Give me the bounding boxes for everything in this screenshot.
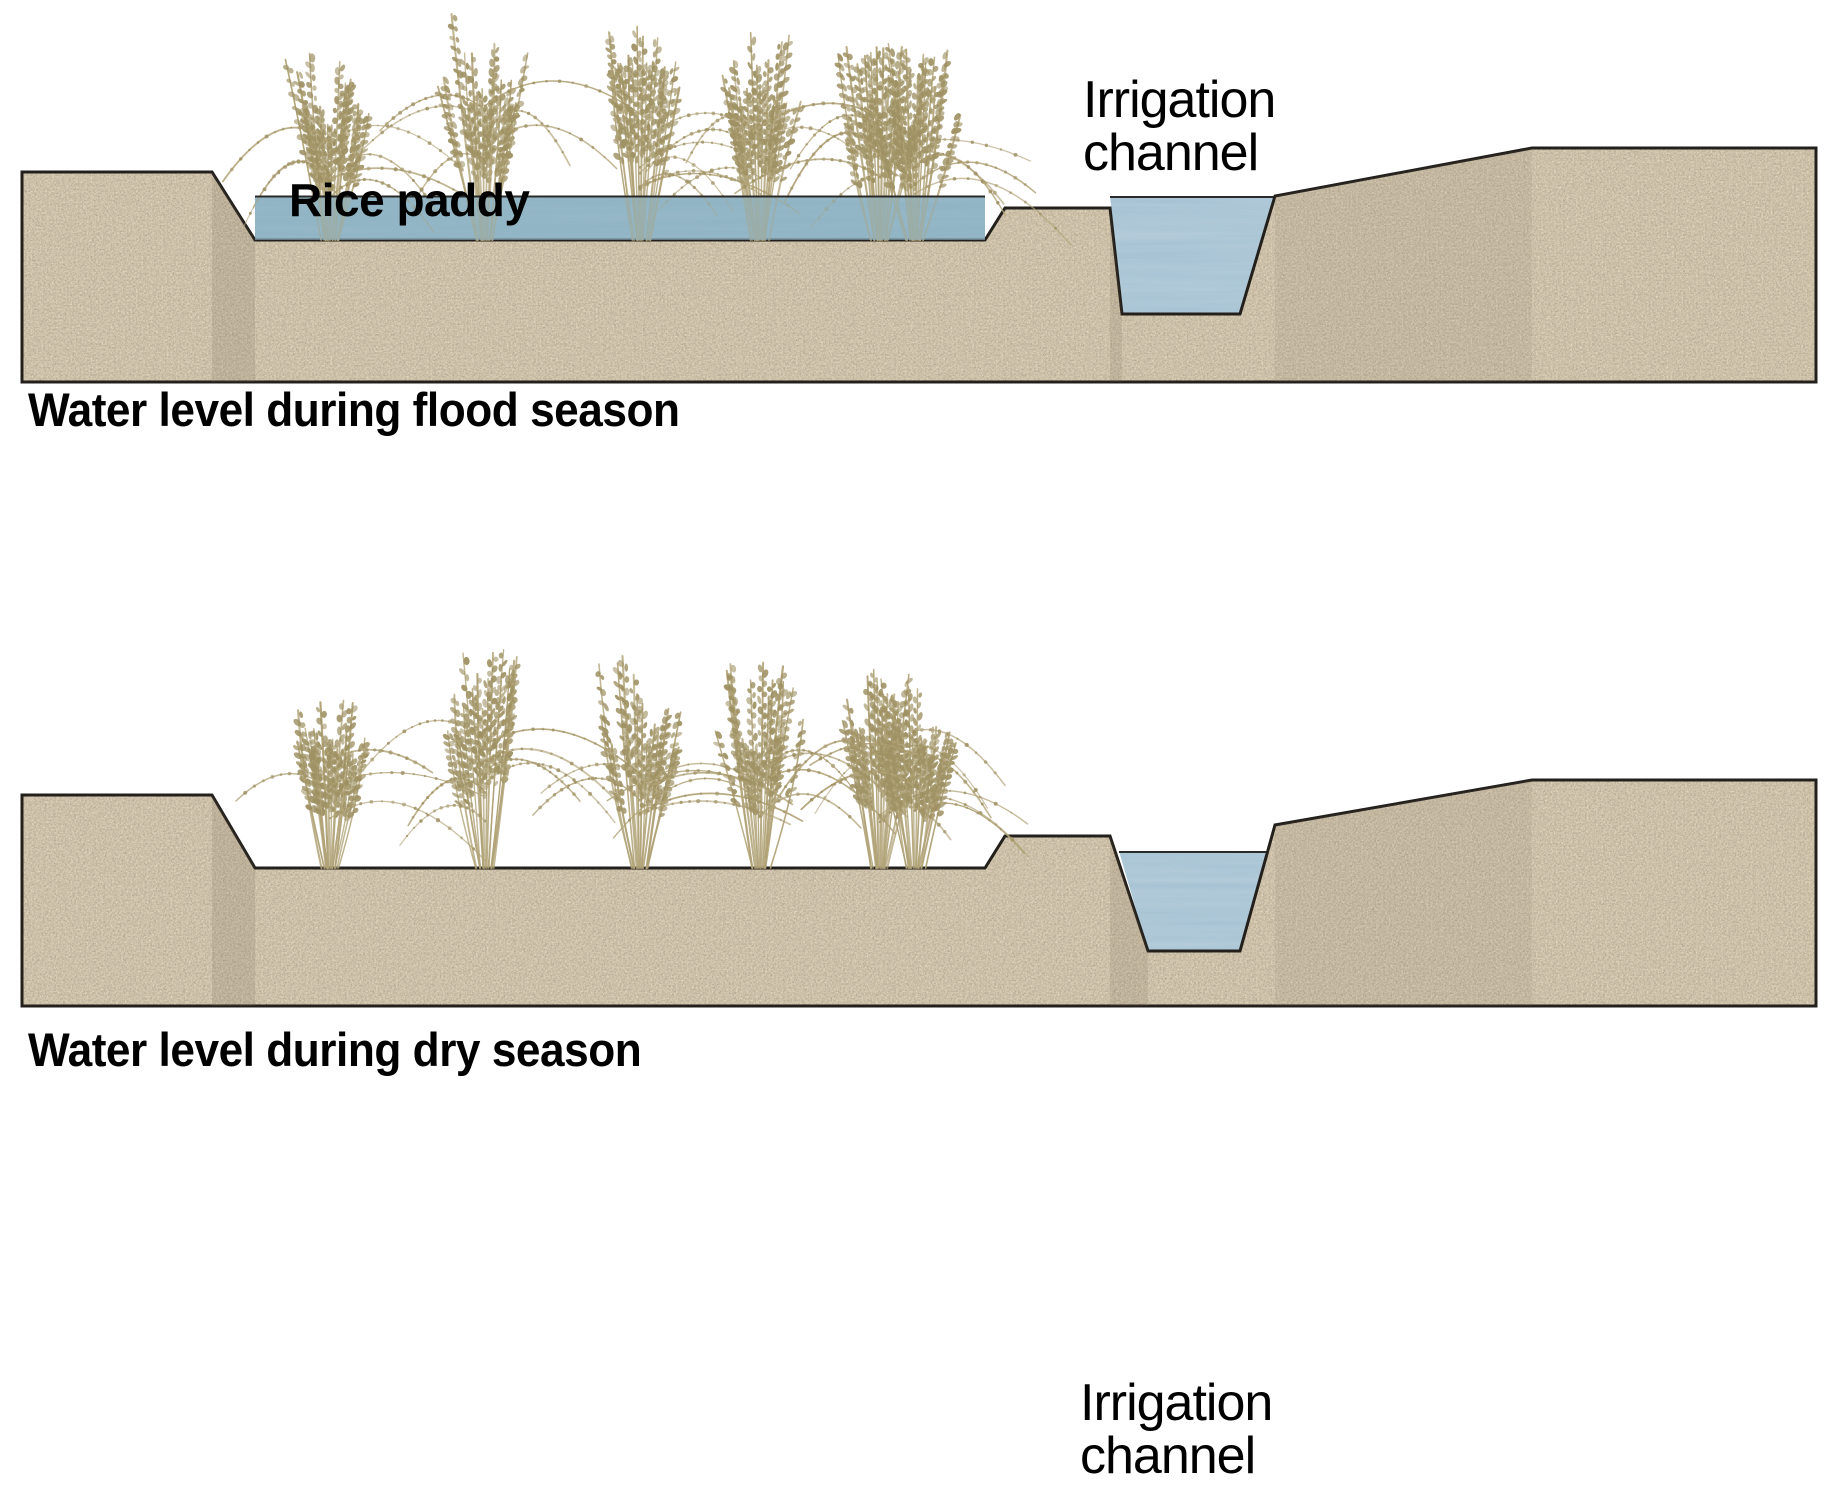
rice-grain: [955, 803, 958, 806]
rice-grain: [805, 162, 809, 166]
rice-grain: [768, 775, 772, 779]
rice-grain: [358, 153, 362, 157]
rice-grain: [463, 778, 466, 781]
rice-grain: [966, 160, 969, 163]
rice-grain: [752, 172, 756, 176]
rice-grain: [503, 131, 507, 135]
rice-grain: [441, 719, 444, 722]
rice-grain: [767, 765, 769, 767]
rice-grain: [707, 770, 710, 773]
rice-grain: [862, 166, 866, 170]
rice-grain: [453, 804, 456, 807]
rice-grain: [736, 119, 738, 121]
rice-grain: [833, 783, 836, 786]
rice-grain: [913, 754, 917, 758]
rice-grain: [905, 759, 909, 763]
rice-grain: [975, 751, 978, 754]
rice-grain: [820, 753, 822, 755]
rice-grain: [560, 780, 563, 783]
rice-grain: [372, 139, 374, 141]
rice-grain: [390, 160, 393, 163]
rice-grain: [439, 149, 442, 152]
rice-grain: [549, 771, 552, 774]
rice-grain: [964, 792, 967, 795]
rice-grain: [688, 800, 691, 803]
rice-grain: [714, 800, 718, 804]
rice-grain: [738, 96, 742, 102]
rice-grain: [470, 730, 472, 732]
rice-grain: [796, 748, 800, 752]
rice-grain: [823, 796, 826, 799]
rice-grain: [447, 760, 455, 768]
rice-grain: [692, 141, 694, 143]
rice-grain: [774, 757, 777, 760]
rice-grain: [347, 129, 350, 132]
rice-grain: [652, 129, 656, 133]
rice-grain: [449, 779, 452, 782]
rice-grain: [653, 178, 657, 182]
rice-grain: [274, 131, 277, 134]
rice-grain: [671, 775, 675, 779]
panel-dry-season: Irrigationchannel Water level during dry…: [0, 640, 1838, 1286]
rice-grain: [573, 770, 575, 772]
rice-grain: [526, 760, 528, 762]
rice-grain: [779, 166, 783, 170]
rice-grain: [272, 174, 276, 178]
rice-grain: [641, 780, 645, 784]
rice-grain: [940, 154, 942, 156]
rice-grain: [937, 823, 941, 827]
rice-grain: [761, 174, 764, 177]
rice-grain: [417, 110, 420, 113]
rice-grain: [483, 145, 487, 149]
rice-grain: [860, 135, 863, 138]
rice-grain: [514, 109, 517, 112]
irrigation-label-line2: channel: [1083, 124, 1258, 182]
rice-grain: [581, 785, 583, 787]
rice-grain: [671, 803, 674, 806]
rice-grain: [913, 165, 916, 168]
rice-grain: [402, 730, 406, 734]
rice-grain: [645, 182, 649, 186]
rice-grain: [436, 818, 440, 822]
rice-grain: [618, 792, 621, 795]
rice-grain: [603, 156, 605, 158]
rice-grain: [483, 680, 488, 689]
rice-grain: [359, 802, 362, 805]
rice-grain: [348, 805, 352, 809]
rice-grain: [814, 158, 816, 160]
rice-grain: [540, 122, 543, 125]
rice-grain: [981, 179, 984, 182]
rice-grain: [339, 780, 342, 783]
rice-grain: [560, 788, 564, 792]
rice-grain: [807, 793, 810, 796]
rice-grain: [700, 793, 702, 795]
rice-grain: [484, 104, 487, 107]
rice-grain: [777, 771, 781, 775]
rice-grain: [853, 132, 857, 136]
rice-grain: [913, 809, 916, 812]
rice-grain: [797, 154, 800, 157]
rice-grain: [311, 74, 316, 81]
rice-grain: [828, 120, 831, 123]
rice-grain: [409, 114, 411, 116]
rice-grain: [317, 749, 321, 755]
rice-grain: [455, 94, 459, 98]
rice-grain: [542, 728, 545, 731]
rice-grain: [706, 128, 709, 131]
rice-grain: [860, 107, 864, 111]
rice-grain: [456, 723, 458, 725]
rice-grain: [994, 802, 998, 806]
rice-grain: [353, 168, 357, 172]
rice-grain: [715, 792, 719, 796]
rice-grain: [988, 819, 990, 821]
rice-grain: [819, 757, 822, 760]
rice-grain: [658, 174, 660, 176]
rice-grain: [614, 781, 616, 783]
rice-grain: [870, 752, 874, 756]
rice-grain: [676, 170, 680, 174]
rice-grain: [718, 772, 721, 775]
rice-grain: [473, 68, 478, 77]
rice-grain: [726, 131, 728, 133]
rice-grain: [560, 757, 562, 759]
rice-grain: [833, 135, 836, 138]
rice-grain: [520, 758, 523, 761]
rice-grain: [521, 748, 524, 751]
rice-grain: [391, 801, 394, 804]
rice-grain: [838, 807, 840, 809]
rice-grain: [832, 102, 835, 105]
rice-grain: [683, 158, 686, 161]
rice-grain: [887, 772, 891, 776]
rice-grain: [944, 802, 947, 805]
rice-grain: [411, 102, 415, 106]
rice-grain: [645, 180, 648, 183]
rice-grain: [932, 154, 936, 158]
rice-grain: [507, 89, 511, 93]
rice-grain: [381, 800, 383, 802]
rice-grain: [605, 811, 607, 813]
rice-grain: [870, 170, 874, 174]
rice-grain: [396, 127, 399, 130]
rice-grain: [422, 802, 425, 805]
rice-grain: [635, 144, 638, 147]
rice-grain: [687, 113, 691, 117]
rice-grain: [395, 736, 397, 738]
rice-grain: [496, 119, 499, 122]
rice-grain: [296, 159, 300, 163]
rice-grain: [262, 779, 265, 782]
rice-grain: [877, 742, 881, 746]
rice-grain: [459, 804, 463, 808]
rice-grain: [484, 783, 486, 785]
rice-grain: [531, 727, 534, 730]
rice-grain: [730, 146, 732, 148]
rice-grain: [738, 778, 741, 781]
rice-grain: [920, 728, 924, 732]
rice-grain: [555, 775, 558, 778]
dry-season-caption: Water level during dry season: [28, 1022, 641, 1077]
rice-grain: [849, 774, 853, 778]
rice-grain: [650, 729, 653, 737]
rice-grain: [624, 766, 628, 770]
rice-grain: [483, 108, 486, 111]
rice-grain: [746, 45, 753, 54]
dry-season-cross-section: [0, 640, 1838, 1060]
rice-grain: [638, 798, 641, 801]
panel-flood-season: Rice paddy Irrigationchannel Water level…: [0, 0, 1838, 560]
rice-grain: [243, 791, 247, 795]
rice-grain: [654, 57, 662, 65]
rice-grain: [466, 152, 469, 155]
rice-grain: [826, 139, 829, 142]
rice-grain: [745, 141, 749, 145]
rice-grain: [693, 771, 697, 775]
rice-grain: [963, 780, 967, 784]
rice-grain: [704, 112, 707, 115]
rice-grain: [373, 748, 376, 751]
rice-grain: [579, 138, 583, 142]
rice-grain: [785, 751, 788, 754]
rice-grain: [984, 760, 988, 764]
rice-grain: [840, 778, 843, 781]
rice-grain: [836, 116, 839, 119]
rice-grain: [706, 800, 708, 802]
rice-grain: [711, 181, 715, 185]
rice-grain: [507, 110, 511, 114]
rice-grain: [405, 107, 408, 110]
rice-grain: [749, 784, 751, 786]
rice-grain: [1054, 227, 1057, 230]
rice-grain: [280, 773, 283, 776]
rice-grain: [282, 128, 285, 131]
rice-grain: [934, 802, 937, 805]
rice-grain: [545, 80, 548, 83]
rice-grain: [467, 108, 471, 112]
rice-grain: [805, 159, 808, 162]
rice-grain: [837, 138, 839, 140]
rice-grain: [268, 181, 270, 183]
rice-grain: [819, 145, 822, 148]
rice-grain: [446, 804, 450, 808]
rice-grain: [426, 814, 429, 817]
rice-grain: [629, 785, 633, 789]
rice-grain: [887, 744, 890, 747]
rice-grain: [405, 756, 409, 760]
rice-grain: [548, 130, 550, 132]
rice-grain: [828, 775, 831, 778]
rice-grain: [794, 771, 797, 774]
rice-grain: [792, 753, 796, 757]
rice-grain: [385, 122, 389, 126]
rice-grain: [716, 119, 720, 123]
rice-grain: [397, 754, 400, 757]
rice-grain: [866, 139, 870, 143]
rice-grain: [502, 114, 504, 116]
rice-grain: [790, 749, 794, 753]
rice-grain: [975, 161, 978, 164]
rice-grain: [435, 777, 438, 780]
rice-grain: [594, 742, 597, 745]
rice-grain: [483, 819, 486, 822]
rice-grain: [685, 769, 689, 773]
rice-grain: [1039, 212, 1042, 215]
rice-grain: [459, 106, 462, 109]
rice-grain: [377, 124, 379, 126]
rice-grain: [781, 112, 784, 115]
rice-grain: [458, 776, 462, 780]
rice-grain: [338, 164, 342, 168]
rice-grain: [891, 145, 894, 148]
rice-grain: [865, 119, 867, 121]
rice-grain: [358, 749, 361, 752]
rice-grain: [850, 788, 852, 790]
rice-grain: [542, 766, 546, 770]
rice-grain: [443, 104, 446, 107]
rice-grain: [750, 126, 752, 128]
rice-grain: [689, 779, 693, 783]
rice-grain: [448, 93, 452, 97]
rice-paddy-label: Rice paddy: [289, 177, 529, 224]
rice-grain: [447, 158, 450, 161]
rice-grain: [787, 769, 791, 773]
rice-grain: [310, 164, 314, 168]
rice-grain: [417, 135, 420, 138]
rice-grain: [424, 97, 427, 100]
rice-grain: [847, 161, 850, 164]
rice-grain: [434, 105, 437, 108]
rice-grain: [949, 790, 951, 792]
rice-grain: [847, 132, 850, 135]
rice-grain: [349, 777, 352, 780]
rice-grain: [733, 178, 736, 181]
rice-grain: [830, 158, 833, 161]
rice-grain: [896, 747, 898, 749]
rice-grain: [297, 773, 299, 775]
rice-grain: [257, 141, 260, 144]
rice-grain: [831, 764, 835, 768]
rice-grain: [683, 136, 686, 139]
rice-grain: [492, 754, 495, 757]
rice-grain: [562, 731, 565, 734]
rice-grain: [595, 763, 599, 767]
rice-grain: [391, 116, 395, 120]
rice-grain: [459, 152, 462, 155]
rice-grain: [498, 743, 503, 749]
rice-grain: [971, 141, 974, 144]
rice-grain: [448, 826, 452, 830]
rice-grain: [461, 96, 464, 99]
rice-grain: [569, 132, 571, 134]
rice-grain: [749, 130, 753, 134]
rice-grain: [821, 126, 823, 128]
rice-grain: [290, 127, 292, 129]
rice-grain: [684, 794, 687, 797]
rice-grain: [533, 116, 537, 120]
rice-grain: [474, 81, 478, 90]
rice-grain: [672, 66, 680, 73]
rice-grain: [802, 105, 805, 108]
rice-grain: [718, 167, 721, 170]
rice-grain: [687, 763, 689, 765]
rice-grain: [674, 766, 677, 769]
rice-grain: [829, 752, 831, 754]
rice-grain: [758, 138, 761, 141]
rice-grain: [790, 187, 793, 190]
rice-grain: [943, 138, 946, 141]
rice-grain: [270, 775, 274, 779]
rice-grain: [483, 743, 486, 746]
rice-grain: [356, 126, 360, 130]
rice-grain: [673, 193, 676, 196]
irrigation-label-line1-dry: Irrigation: [1080, 1374, 1272, 1432]
rice-grain: [571, 81, 574, 84]
rice-grain: [413, 760, 417, 764]
rice-grain: [561, 151, 563, 153]
rice-grain: [859, 771, 863, 775]
rice-grain: [901, 175, 904, 178]
rice-grain: [524, 124, 528, 128]
rice-grain: [414, 807, 417, 810]
rice-grain: [851, 105, 854, 108]
rice-grain: [425, 107, 429, 111]
rice-grain: [893, 161, 896, 164]
rice-grain: [668, 146, 671, 149]
rice-grain: [433, 169, 437, 173]
rice-grain: [853, 763, 855, 765]
rice-grain: [827, 800, 830, 803]
rice-grain: [653, 39, 657, 47]
rice-grain: [894, 173, 897, 176]
rice-grain: [784, 757, 786, 759]
rice-grain: [949, 798, 951, 800]
rice-grain: [800, 126, 804, 130]
rice-grain: [663, 805, 665, 807]
rice-grain: [802, 749, 805, 752]
rice-grain: [872, 145, 876, 149]
rice-grain: [834, 741, 836, 743]
rice-grain: [668, 173, 671, 176]
rice-grain: [313, 131, 316, 134]
rice-grain: [731, 782, 735, 786]
rice-grain: [460, 836, 463, 839]
rice-grain: [492, 738, 496, 742]
rice-grain: [719, 128, 722, 131]
rice-grain: [815, 752, 817, 754]
rice-grain: [805, 143, 807, 145]
rice-grain: [839, 193, 842, 196]
rice-grain: [1011, 812, 1013, 814]
rice-grain: [351, 751, 353, 753]
rice-grain: [858, 116, 860, 118]
rice-grain: [287, 162, 291, 166]
rice-grain: [638, 791, 641, 794]
rice-grain: [278, 170, 281, 173]
rice-grain: [498, 760, 502, 764]
rice-grain: [756, 695, 762, 704]
rice-grain: [1004, 171, 1007, 174]
rice-grain: [946, 154, 949, 157]
rice-grain: [730, 114, 734, 118]
rice-grain: [478, 157, 481, 160]
rice-grain: [711, 127, 715, 131]
rice-grain: [512, 764, 515, 767]
rice-grain: [809, 126, 813, 130]
rice-grain: [700, 170, 702, 172]
